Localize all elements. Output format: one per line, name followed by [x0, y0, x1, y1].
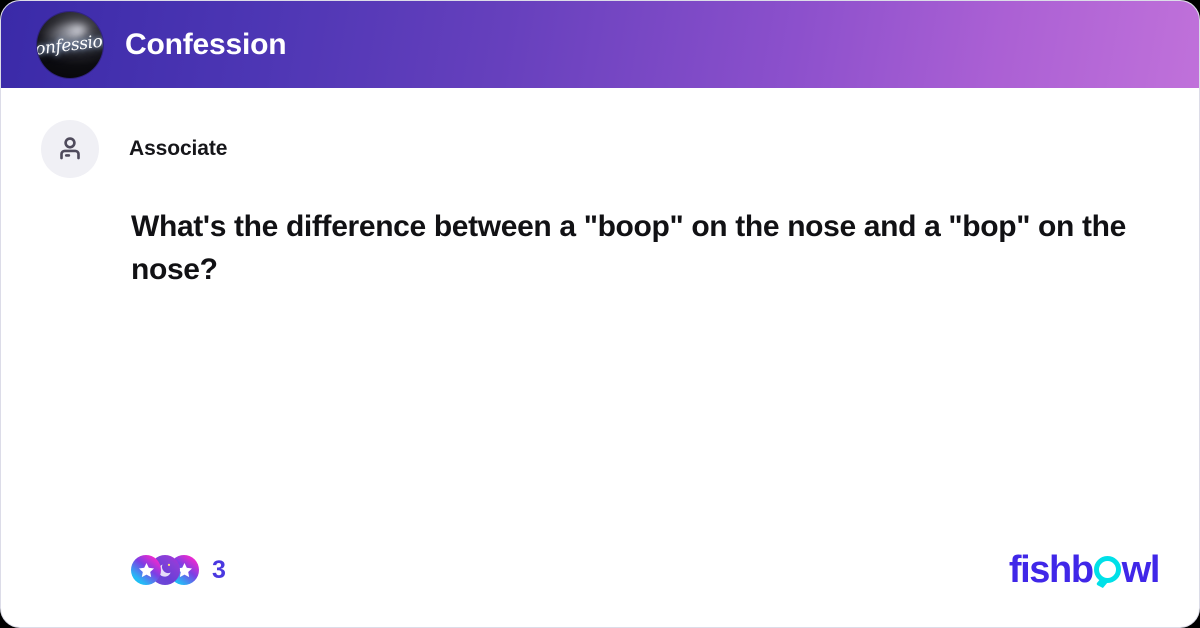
- reaction-badges[interactable]: [131, 554, 199, 586]
- card-header: onfession Confession: [1, 1, 1199, 88]
- author-row: Associate: [41, 120, 1159, 178]
- post-text: What's the difference between a "boop" o…: [131, 206, 1129, 291]
- star-reaction-icon: [137, 561, 156, 580]
- fishbowl-logo: fishb wl: [1009, 551, 1159, 589]
- person-icon: [55, 134, 85, 164]
- speech-bubble-o-icon: [1094, 556, 1121, 583]
- card-footer: 3 fishb wl: [1, 549, 1199, 591]
- avatar: [41, 120, 99, 178]
- brand-title: Confession: [125, 30, 286, 60]
- card-body: Associate What's the difference between …: [1, 88, 1199, 627]
- reactions[interactable]: 3: [131, 554, 226, 586]
- logo-text-part-1: fishb: [1009, 551, 1093, 589]
- brand-avatar: onfession: [37, 12, 103, 78]
- author-name: Associate: [129, 137, 227, 161]
- logo-text-part-2: wl: [1122, 551, 1159, 589]
- post-card: onfession Confession Associate What's th…: [0, 0, 1200, 628]
- reaction-badge-star[interactable]: [131, 555, 161, 585]
- reaction-count: 3: [212, 556, 226, 585]
